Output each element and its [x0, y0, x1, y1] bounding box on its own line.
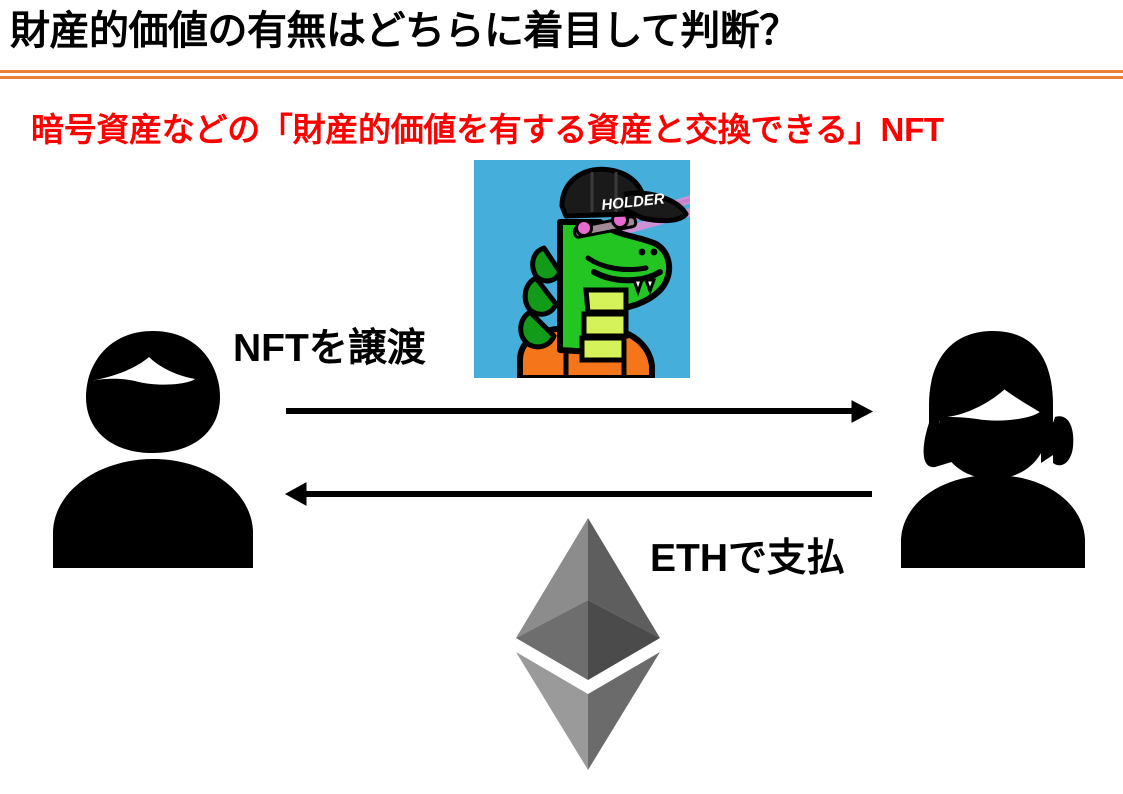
arrow-left-icon: [286, 483, 872, 505]
title-divider-line-top: [0, 70, 1123, 73]
subtitle-text: 暗号資産などの「財産的価値を有する資産と交換できる」NFT: [31, 103, 944, 151]
ethereum-diamond-icon: [512, 516, 664, 772]
slide-canvas: 財産的価値の有無はどちらに着目して判断？ 暗号資産などの「財産的価値を有する資産…: [0, 0, 1123, 794]
exchange-arrows: [280, 395, 880, 510]
receiver-person-icon: [895, 327, 1091, 570]
title-divider: [0, 70, 1123, 80]
arrow-right-icon: [286, 401, 872, 422]
eth-payment-label: ETHで支払: [650, 527, 845, 583]
nft-transfer-label: NFTを譲渡: [233, 317, 426, 373]
page-title: 財産的価値の有無はどちらに着目して判断？: [10, 8, 799, 55]
sender-person-icon: [45, 325, 261, 570]
nft-crocodile-avatar: HOLDER: [474, 160, 690, 378]
title-divider-line-bottom: [0, 76, 1123, 79]
